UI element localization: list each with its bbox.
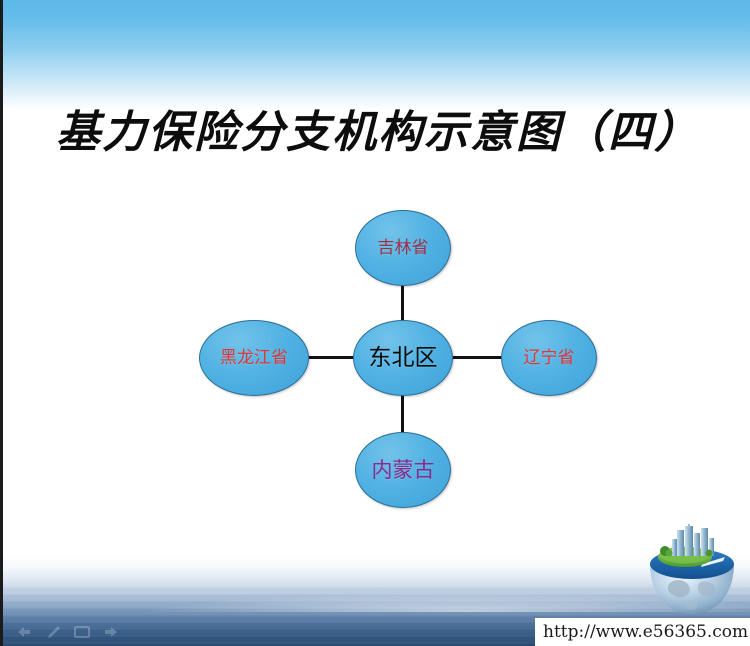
diagram-node-inner-mongolia[interactable]: 内蒙古	[355, 432, 451, 508]
diagram-node-label: 黑龙江省	[220, 350, 288, 367]
diagram-node-label: 内蒙古	[372, 460, 435, 481]
arrow-right-icon[interactable]	[102, 624, 120, 640]
watermark-url-text: http://www.e56365.com	[535, 622, 748, 642]
slide-icon[interactable]	[73, 624, 91, 640]
diagram-node-liaoning[interactable]: 辽宁省	[501, 320, 597, 396]
watermark-url-box: http://www.e56365.com	[535, 618, 750, 646]
diagram-node-label: 辽宁省	[524, 350, 575, 367]
diagram-node-heilongjiang[interactable]: 黑龙江省	[199, 320, 309, 396]
background-water-highlight	[3, 586, 750, 612]
diagram-node-label: 吉林省	[378, 240, 429, 257]
globe-city-logo	[639, 524, 745, 616]
diagram-node-northeast-region[interactable]: 东北区	[353, 320, 453, 396]
presentation-slide: 基力保险分支机构示意图（四） 吉林省 黑龙江省 东北区 辽宁省 内蒙古	[0, 0, 750, 646]
diagram-node-jilin[interactable]: 吉林省	[355, 210, 451, 286]
pen-icon[interactable]	[44, 624, 62, 640]
slide-title: 基力保险分支机构示意图（四）	[3, 108, 750, 157]
connector-center-to-bottom	[401, 390, 404, 438]
arrow-left-icon[interactable]	[15, 624, 33, 640]
slideshow-nav-bar	[15, 624, 120, 640]
background-sky-gradient	[3, 0, 750, 110]
connector-center-to-left	[301, 356, 359, 359]
diagram-node-label: 东北区	[369, 347, 438, 370]
connector-center-to-right	[447, 356, 507, 359]
